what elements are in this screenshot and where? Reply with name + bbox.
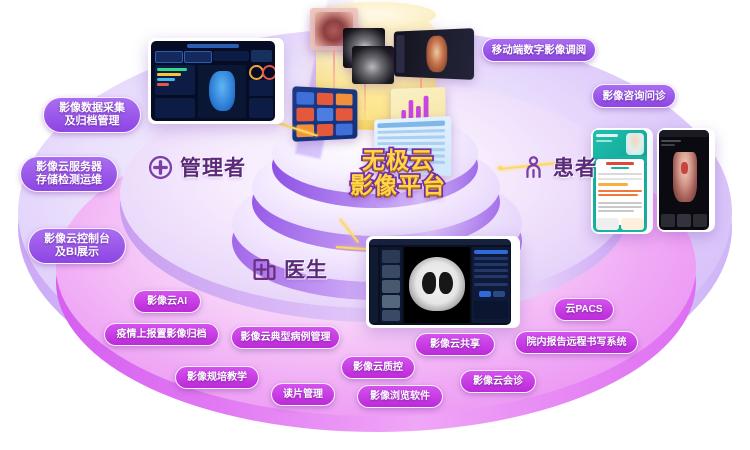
ct-tool-rail <box>370 247 378 323</box>
dash-bar-a <box>157 68 187 71</box>
table-row <box>377 129 445 134</box>
app-tile-panel <box>292 86 357 142</box>
table-row <box>377 135 445 139</box>
dash-kpi-2 <box>184 51 212 63</box>
patient-report-screen <box>593 130 647 232</box>
tag-admin-1-line2: 存储检测运维 <box>36 174 102 187</box>
ct-report-row <box>474 275 508 278</box>
ct-report-row <box>474 269 508 272</box>
dash-title-bar <box>187 44 239 48</box>
admin-dashboard-screen <box>151 41 275 121</box>
phone2-thumb <box>693 214 707 227</box>
dash-bar-d <box>157 83 169 86</box>
phone2-3d-skeleton <box>673 152 697 202</box>
angiography-viewer-image <box>394 28 474 80</box>
tag-doctor-3[interactable]: 影像云共享 <box>415 333 495 356</box>
phone1-text <box>598 210 634 212</box>
dash-map-shape <box>209 71 235 111</box>
dash-donut-2 <box>262 65 275 80</box>
tile-6 <box>336 108 353 121</box>
patient-report-phone[interactable] <box>591 128 653 234</box>
phone1-report-subtitle <box>611 167 629 169</box>
tag-doctor-7[interactable]: 院内报告远程书写系统 <box>515 331 638 354</box>
phone1-field <box>598 173 642 175</box>
ct-viewer-device[interactable] <box>366 236 520 328</box>
tag-admin-0-line1: 影像数据采集 <box>59 102 125 115</box>
tag-admin-2-line1: 影像云控制台 <box>44 233 110 246</box>
dash-bar-b <box>157 73 181 76</box>
tag-doctor-6[interactable]: 影像云质控 <box>341 356 415 379</box>
ultrasound-image-b <box>352 46 394 84</box>
tag-admin-1[interactable]: 影像云服务器 存储检测运维 <box>20 156 118 192</box>
phone2-thumb <box>661 214 675 227</box>
role-administrator[interactable]: 管理者 <box>148 152 246 182</box>
tag-doctor-2[interactable]: 影像云典型病例管理 <box>231 326 340 349</box>
phone1-header-sub <box>596 140 612 142</box>
platform-title-line1: 无极云 <box>328 148 468 173</box>
phone1-text <box>598 194 638 196</box>
tag-admin-0-line2: 及归档管理 <box>65 115 120 128</box>
dash-kpi-3 <box>213 51 249 61</box>
angio-vessel-detail <box>426 35 447 72</box>
phone2-highlight-region <box>681 162 688 174</box>
phone2-toolbar <box>659 130 709 137</box>
ct-slice-body <box>409 257 465 311</box>
tag-patient-1[interactable]: 影像咨询问诊 <box>592 84 676 108</box>
ct-cancel-button[interactable] <box>493 291 505 297</box>
tile-1 <box>296 92 314 105</box>
tag-admin-1-line1: 影像云服务器 <box>36 161 102 174</box>
dash-list-left <box>155 98 195 118</box>
phone1-text <box>598 190 642 192</box>
phone1-report-title <box>606 162 634 165</box>
dash-bar-c <box>157 78 175 81</box>
ct-thumb <box>382 265 400 278</box>
ct-save-button[interactable] <box>479 291 491 297</box>
ct-thumb <box>382 280 400 293</box>
dash-sparkline <box>251 50 272 62</box>
phone1-header-title <box>596 134 618 137</box>
admin-dashboard-device[interactable] <box>148 38 284 124</box>
medical-record-plus-icon <box>252 257 277 282</box>
connector-dot-patient <box>498 166 502 170</box>
tile-4 <box>296 108 314 122</box>
ct-thumb <box>382 250 400 263</box>
patient-3d-screen <box>659 130 709 230</box>
ct-thumb <box>382 310 400 321</box>
angio-toolbar <box>396 35 404 73</box>
tag-doctor-4[interactable]: 云PACS <box>554 298 614 321</box>
tag-patient-0[interactable]: 移动端数字影像调阅 <box>482 38 596 62</box>
phone2-thumb <box>677 214 691 227</box>
person-icon <box>521 155 546 180</box>
role-administrator-label: 管理者 <box>180 152 246 182</box>
infographic-canvas: 管理者 患者 医生 无极云 影像平台 影像数据采集 及归档管理 <box>0 0 750 450</box>
role-patient-label: 患者 <box>553 152 597 182</box>
tag-doctor-5[interactable]: 影像规培教学 <box>175 366 259 389</box>
role-patient[interactable]: 患者 <box>521 152 597 182</box>
ct-lung-left <box>422 272 436 294</box>
tile-2 <box>317 93 333 106</box>
ct-report-row <box>474 283 508 286</box>
phone1-action-right[interactable] <box>621 218 644 230</box>
ct-notes-panel <box>474 301 508 319</box>
ct-report-header <box>474 250 508 254</box>
tile-5 <box>317 108 333 121</box>
tile-9 <box>336 123 353 135</box>
ct-toolbar <box>369 239 511 245</box>
tag-doctor-10[interactable]: 影像浏览软件 <box>357 385 443 408</box>
phone1-text <box>598 202 642 204</box>
tile-8 <box>317 124 333 137</box>
tag-doctor-8[interactable]: 读片管理 <box>271 383 335 406</box>
tag-admin-0[interactable]: 影像数据采集 及归档管理 <box>43 97 141 133</box>
phone2-meta <box>661 140 681 142</box>
dash-list-right <box>249 98 273 118</box>
platform-title: 无极云 影像平台 <box>328 148 468 198</box>
tag-doctor-1[interactable]: 疫情上报置影像归档 <box>104 323 219 346</box>
phone1-text <box>598 206 642 208</box>
patient-3d-phone[interactable] <box>657 128 715 232</box>
ct-report-row <box>474 263 508 266</box>
dash-line-chart <box>249 80 273 96</box>
circle-plus-icon <box>148 155 173 180</box>
phone1-doctor-illustration <box>626 133 644 155</box>
tag-admin-2-line2: 及BI展示 <box>55 246 99 259</box>
dash-kpi-1 <box>155 51 183 63</box>
table-header <box>377 120 445 128</box>
ct-thumb <box>382 295 400 308</box>
phone2-meta <box>661 144 675 146</box>
phone1-highlight <box>598 183 628 186</box>
role-doctor[interactable]: 医生 <box>252 254 328 284</box>
tag-doctor-0[interactable]: 影像云AI <box>133 290 201 313</box>
table-row <box>377 142 445 145</box>
phone1-action-left[interactable] <box>596 218 619 230</box>
ct-lung-right <box>439 272 453 294</box>
ct-viewer-screen <box>369 239 511 325</box>
tag-doctor-9[interactable]: 影像云会诊 <box>460 370 536 393</box>
platform-title-line2: 影像平台 <box>328 173 468 198</box>
phone1-field <box>598 178 642 180</box>
ct-report-row <box>474 257 508 260</box>
tile-3 <box>336 93 353 105</box>
tag-admin-2[interactable]: 影像云控制台 及BI展示 <box>28 228 126 264</box>
role-doctor-label: 医生 <box>284 254 328 284</box>
